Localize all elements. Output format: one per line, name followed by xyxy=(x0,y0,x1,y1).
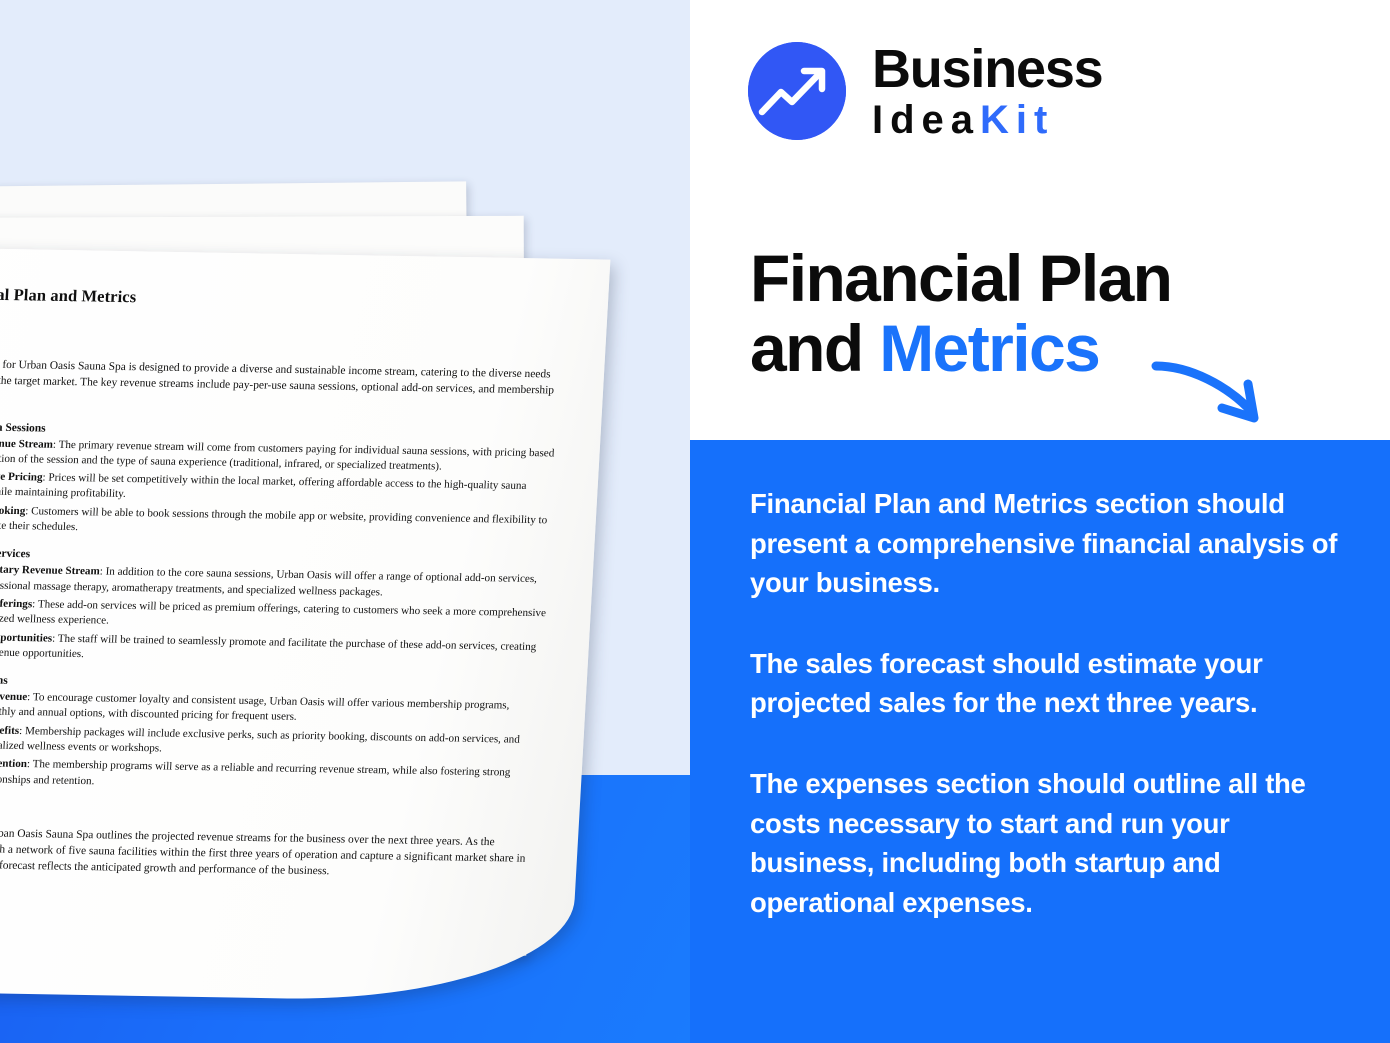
document-stack: VI. Financial Plan and Metrics Revenue M… xyxy=(0,185,570,985)
document-sheet-front: VI. Financial Plan and Metrics Revenue M… xyxy=(0,247,610,1003)
slide-canvas: VI. Financial Plan and Metrics Revenue M… xyxy=(0,0,1390,1043)
panel-paragraph-2: The sales forecast should estimate your … xyxy=(750,644,1350,723)
page-title-line-1: Financial Plan xyxy=(750,244,1350,314)
bullet-text: : Customers will be able to book session… xyxy=(0,505,548,533)
bullet-term: Flexible Booking xyxy=(0,504,26,517)
bullet-term: Competitive Pricing xyxy=(0,470,43,484)
panel-paragraph-1: Financial Plan and Metrics section shoul… xyxy=(750,484,1350,603)
logo-text-business: Business xyxy=(872,39,1103,99)
bullet-text: : The staff will be trained to seamlessl… xyxy=(0,632,537,660)
bullet-text: : These add-on services will be priced a… xyxy=(0,598,546,627)
bullet-term: Core Revenue Stream xyxy=(0,436,53,450)
bullet-term: Upselling Opportunities xyxy=(0,630,52,644)
document-content: VI. Financial Plan and Metrics Revenue M… xyxy=(0,283,564,899)
trend-up-circle-icon xyxy=(748,42,846,140)
bullet-text: : The primary revenue stream will come f… xyxy=(0,438,555,472)
revenue-model-heading: Revenue Model xyxy=(0,331,562,357)
logo-text-kit: Kit xyxy=(980,98,1054,142)
bullet-text: : Membership packages will include exclu… xyxy=(0,725,520,755)
revenue-model-paragraph: The revenue model for Urban Oasis Sauna … xyxy=(0,355,560,415)
bullet-list-optional-addon: Complementary Revenue Stream: In additio… xyxy=(0,561,549,670)
bullet-term: Customer Retention xyxy=(0,757,27,771)
logo-text-idea: Idea xyxy=(872,98,980,142)
panel-paragraph-3: The expenses section should outline all … xyxy=(750,764,1350,922)
logo-line-idea-kit: IdeaKit xyxy=(872,100,1103,140)
bullet-text: : The membership programs will serve as … xyxy=(0,758,511,786)
page-title-and: and xyxy=(750,311,879,385)
document-title: VI. Financial Plan and Metrics xyxy=(0,283,564,314)
bullet-term: Exclusive Benefits xyxy=(0,723,20,736)
bullet-text: : To encourage customer loyalty and cons… xyxy=(0,691,510,723)
logo-wordmark: Business IdeaKit xyxy=(872,42,1103,140)
bullet-term: Complementary Revenue Stream xyxy=(0,563,100,578)
sales-forecast-paragraph: The sales forecast for Urban Oasis Sauna… xyxy=(0,823,534,883)
bullet-list-pay-per-use: Core Revenue Stream: The primary revenue… xyxy=(0,435,556,544)
curved-arrow-down-right-icon xyxy=(1148,348,1288,438)
logo-line-business: Business xyxy=(872,42,1103,96)
sales-forecast-heading: Sales Forecast xyxy=(0,800,536,826)
bullet-text: : Prices will be set competitively withi… xyxy=(0,472,527,501)
page-title-metrics: Metrics xyxy=(879,311,1099,385)
panel-description: Financial Plan and Metrics section shoul… xyxy=(750,484,1350,922)
bullet-term: Recurring Revenue xyxy=(0,690,28,704)
bullet-list-membership: Recurring Revenue: To encourage customer… xyxy=(0,688,542,797)
brand-logo: Business IdeaKit xyxy=(748,42,1103,140)
bullet-term: Premium Offerings xyxy=(0,597,33,611)
